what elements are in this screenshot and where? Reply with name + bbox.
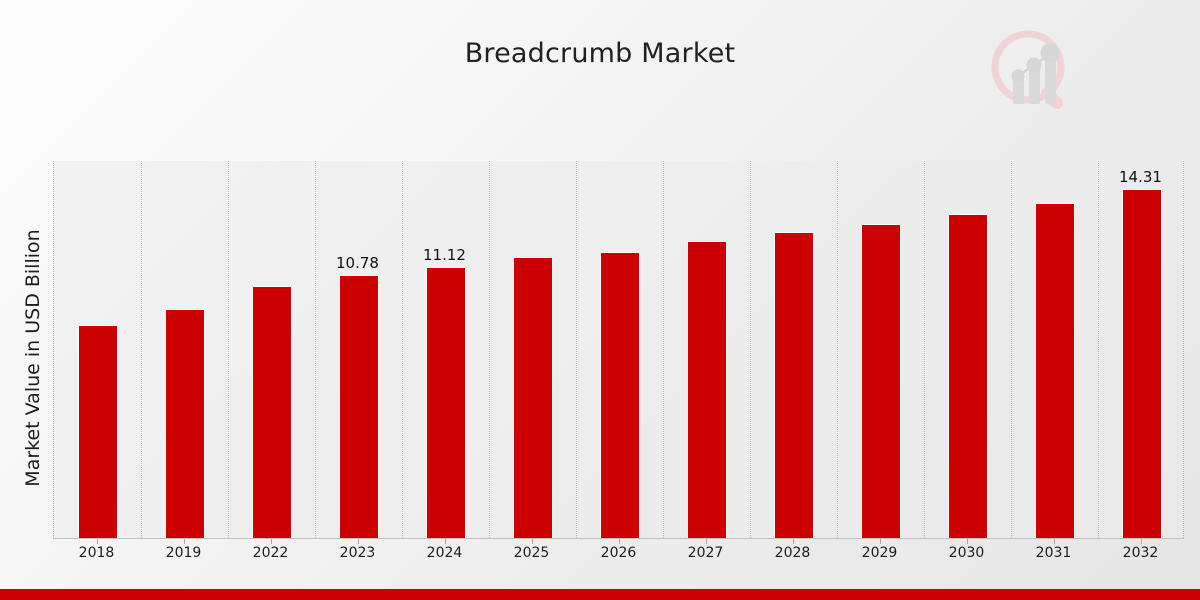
gridline [576,161,577,538]
x-axis-tick [271,539,272,544]
gridline [228,161,229,538]
bar-value-label: 14.31 [1096,168,1186,186]
x-axis-label-2027: 2027 [666,545,746,561]
x-axis-tick [619,539,620,544]
x-axis-tick [445,539,446,544]
bar-value-label: 10.78 [313,254,403,272]
x-axis-tick [880,539,881,544]
gridline [315,161,316,538]
x-axis-label-2026: 2026 [579,545,659,561]
y-axis-title: Market Value in USD Billion [22,158,44,558]
x-axis-label-2032: 2032 [1101,545,1181,561]
x-axis-label-2018: 2018 [57,545,137,561]
gridline [1011,161,1012,538]
plot-area [53,161,1184,538]
x-axis-label-2030: 2030 [927,545,1007,561]
bar-2028[interactable] [775,233,813,538]
x-axis-tick [1054,539,1055,544]
bar-2022[interactable] [253,287,291,538]
gridline [1098,161,1099,538]
x-axis-label-2031: 2031 [1014,545,1094,561]
chart-figure: Breadcrumb Market Market Value in USD Bi… [0,0,1200,600]
bar-2026[interactable] [601,253,639,538]
x-axis-label-2022: 2022 [231,545,311,561]
x-axis-tick [793,539,794,544]
x-axis-tick [358,539,359,544]
gridline [924,161,925,538]
gridline [402,161,403,538]
bar-value-label: 11.12 [400,246,490,264]
x-axis-tick [97,539,98,544]
bar-2018[interactable] [79,326,117,538]
bar-2019[interactable] [166,310,204,538]
gridline [750,161,751,538]
x-axis-label-2028: 2028 [753,545,833,561]
x-axis-tick [532,539,533,544]
bar-2027[interactable] [688,242,726,538]
x-axis-tick [706,539,707,544]
bar-2023[interactable] [340,276,378,538]
bar-2032[interactable] [1123,190,1161,538]
gridline [141,161,142,538]
x-axis-label-2023: 2023 [318,545,398,561]
x-axis-tick [184,539,185,544]
gridline [663,161,664,538]
x-axis-label-2019: 2019 [144,545,224,561]
gridline [837,161,838,538]
footer-accent-bar [0,589,1200,600]
page-title: Breadcrumb Market [0,38,1200,69]
bar-2025[interactable] [514,258,552,538]
bar-2030[interactable] [949,215,987,538]
x-axis-label-2029: 2029 [840,545,920,561]
x-axis-tick [967,539,968,544]
bar-2031[interactable] [1036,204,1074,538]
bar-2024[interactable] [427,268,465,538]
gridline [489,161,490,538]
x-axis-tick [1141,539,1142,544]
x-axis-label-2024: 2024 [405,545,485,561]
x-axis-label-2025: 2025 [492,545,572,561]
bar-2029[interactable] [862,225,900,538]
